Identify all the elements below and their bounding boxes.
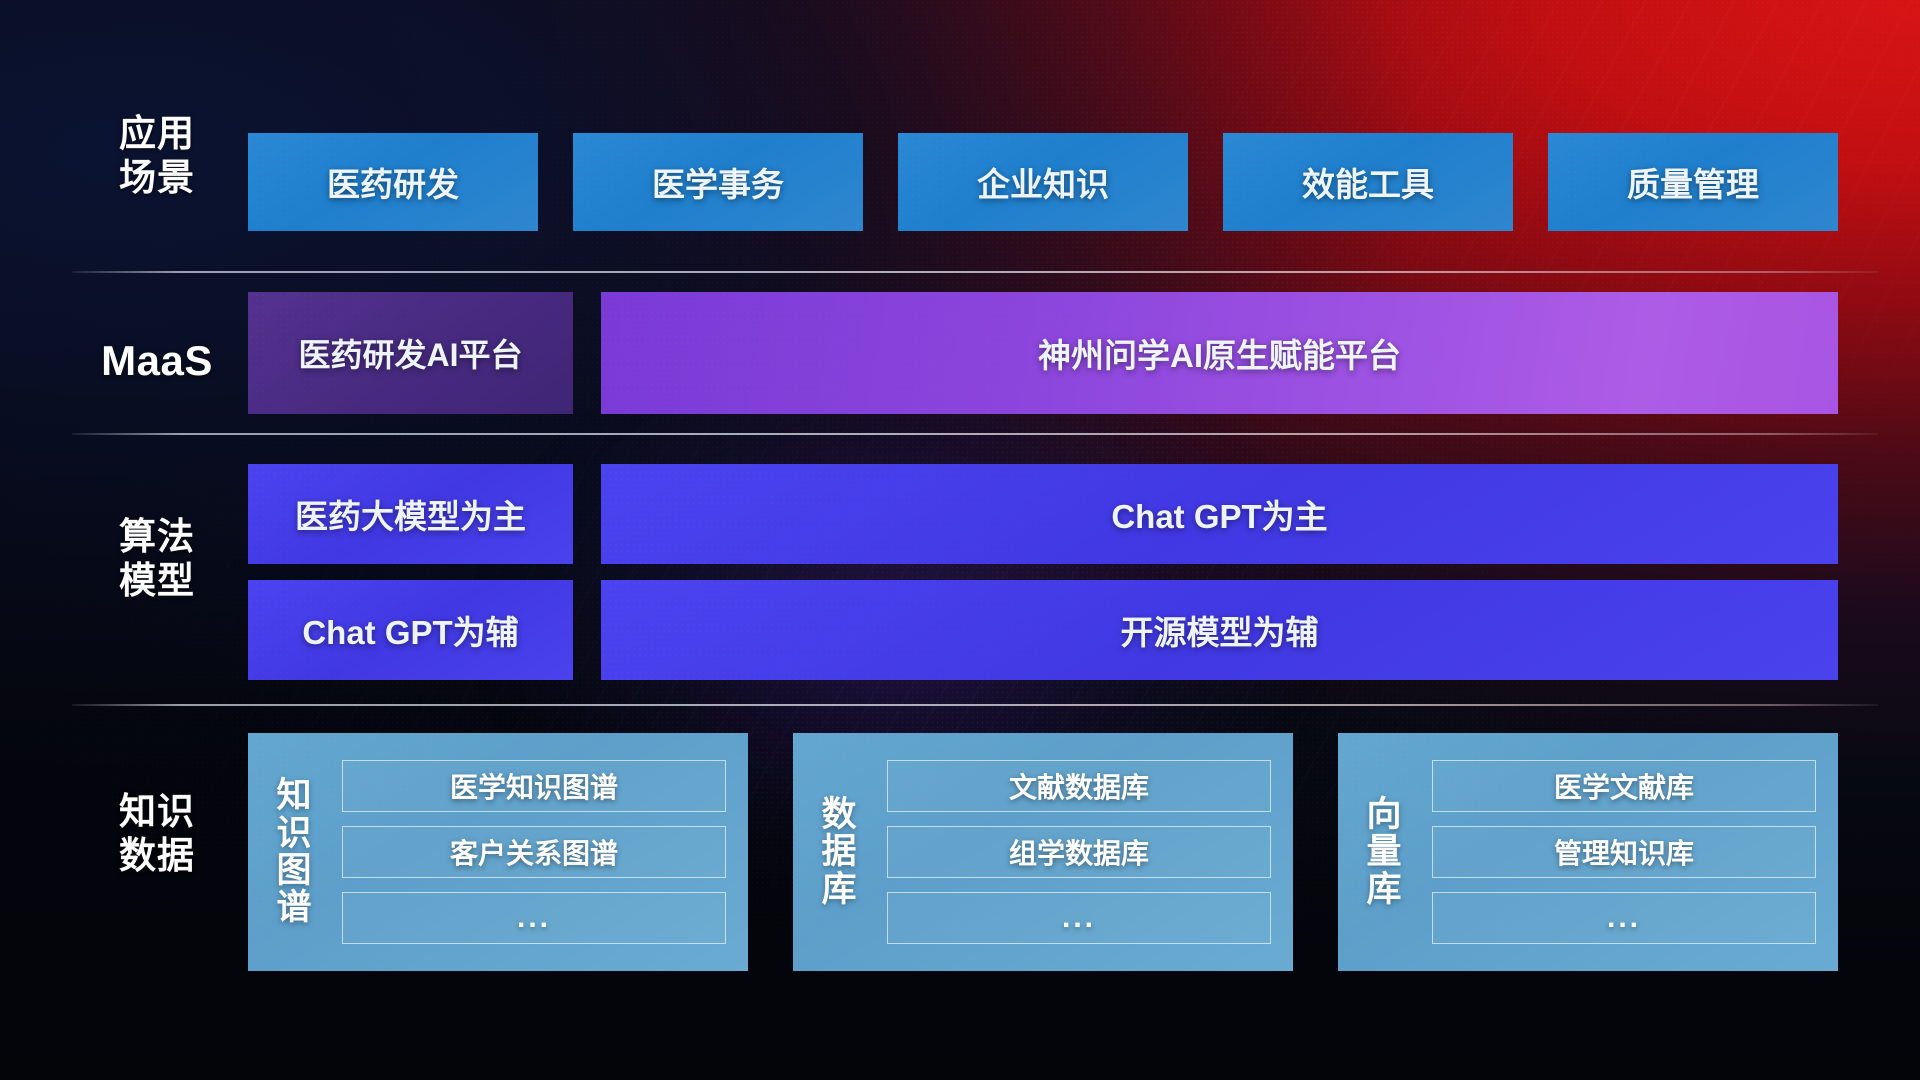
- tile-app-3-label: 企业知识: [977, 158, 1109, 206]
- tile-maas-shenzhou-platform[interactable]: 神州问学AI原生赋能平台: [601, 292, 1838, 414]
- knowledge-panel-database-title: 数据库: [811, 796, 869, 908]
- tile-model-opensource-secondary-label: 开源模型为辅: [1121, 606, 1319, 654]
- row-label-model: 算法 模型: [72, 515, 242, 602]
- architecture-diagram: 应用 场景 医药研发 医学事务 企业知识 效能工具 质量管理 MaaS 医药研发…: [0, 0, 1920, 1080]
- tile-model-chatgpt-primary-label: Chat GPT为主: [1111, 490, 1327, 538]
- knowledge-panel-database-items: 文献数据库 组学数据库 ...: [887, 760, 1271, 944]
- tile-model-chatgpt-secondary[interactable]: Chat GPT为辅: [248, 580, 573, 680]
- knowledge-panel-graph-title: 知识图谱: [266, 777, 324, 927]
- tile-maas-rd-platform-label: 医药研发AI平台: [298, 330, 522, 376]
- row-label-model-line1: 算法: [72, 515, 242, 559]
- tile-app-4-label: 效能工具: [1302, 158, 1434, 206]
- knowledge-panel-graph-items: 医学知识图谱 客户关系图谱 ...: [342, 760, 726, 944]
- knowledge-item-literature-db[interactable]: 文献数据库: [887, 760, 1271, 812]
- row-label-knowledge: 知识 数据: [72, 790, 242, 877]
- knowledge-item-database-more[interactable]: ...: [887, 892, 1271, 944]
- row-label-knowledge-line2: 数据: [72, 834, 242, 878]
- knowledge-item-management-kb[interactable]: 管理知识库: [1432, 826, 1816, 878]
- row-label-knowledge-line1: 知识: [72, 790, 242, 834]
- row-label-maas: MaaS: [72, 336, 242, 386]
- tile-maas-rd-platform[interactable]: 医药研发AI平台: [248, 292, 573, 414]
- tile-app-4[interactable]: 效能工具: [1223, 133, 1513, 231]
- tile-model-pharma-primary[interactable]: 医药大模型为主: [248, 464, 573, 564]
- knowledge-item-graph-more[interactable]: ...: [342, 892, 726, 944]
- knowledge-item-omics-db[interactable]: 组学数据库: [887, 826, 1271, 878]
- divider-maas-model: [72, 433, 1878, 435]
- tile-app-1[interactable]: 医药研发: [248, 133, 538, 231]
- tile-app-5[interactable]: 质量管理: [1548, 133, 1838, 231]
- row-label-maas-text: MaaS: [72, 336, 242, 386]
- divider-application-maas: [72, 271, 1878, 273]
- tile-model-chatgpt-primary[interactable]: Chat GPT为主: [601, 464, 1838, 564]
- tile-app-3[interactable]: 企业知识: [898, 133, 1188, 231]
- knowledge-panel-vector-items: 医学文献库 管理知识库 ...: [1432, 760, 1816, 944]
- knowledge-item-medical-literature[interactable]: 医学文献库: [1432, 760, 1816, 812]
- tile-model-pharma-primary-label: 医药大模型为主: [295, 490, 526, 538]
- row-label-application-line1: 应用: [72, 112, 242, 156]
- tile-app-5-label: 质量管理: [1627, 158, 1759, 206]
- knowledge-item-medical-graph[interactable]: 医学知识图谱: [342, 760, 726, 812]
- tile-maas-shenzhou-platform-label: 神州问学AI原生赋能平台: [1038, 329, 1401, 377]
- knowledge-item-customer-graph[interactable]: 客户关系图谱: [342, 826, 726, 878]
- row-label-application-line2: 场景: [72, 156, 242, 200]
- tile-app-2-label: 医学事务: [652, 158, 784, 206]
- knowledge-panel-vector[interactable]: 向量库 医学文献库 管理知识库 ...: [1338, 733, 1838, 971]
- row-label-model-line2: 模型: [72, 559, 242, 603]
- divider-model-knowledge: [72, 704, 1878, 706]
- knowledge-item-vector-more[interactable]: ...: [1432, 892, 1816, 944]
- knowledge-panel-graph[interactable]: 知识图谱 医学知识图谱 客户关系图谱 ...: [248, 733, 748, 971]
- knowledge-panel-database[interactable]: 数据库 文献数据库 组学数据库 ...: [793, 733, 1293, 971]
- row-label-application: 应用 场景: [72, 112, 242, 199]
- tile-app-1-label: 医药研发: [327, 158, 459, 206]
- tile-app-2[interactable]: 医学事务: [573, 133, 863, 231]
- knowledge-panel-vector-title: 向量库: [1356, 796, 1414, 908]
- tile-model-opensource-secondary[interactable]: 开源模型为辅: [601, 580, 1838, 680]
- tile-model-chatgpt-secondary-label: Chat GPT为辅: [302, 606, 518, 654]
